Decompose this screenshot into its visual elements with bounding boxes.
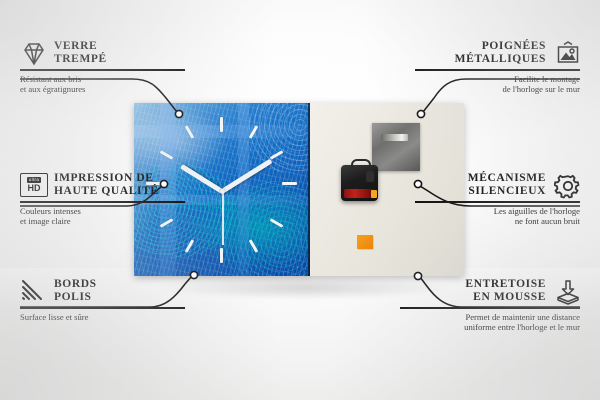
battery-plus-terminal [371,190,377,198]
feature-title: IMPRESSION DE [54,172,159,185]
hanger-plate [372,123,420,171]
feature-entretoise-en-mousse: ENTRETOISE EN MOUSSE Permet de maintenir… [400,278,580,332]
picture-hanger-icon [554,41,580,65]
divider [415,69,580,71]
infographic-canvas: VERRE TREMPÉ Résistant aux bris et aux é… [0,0,600,400]
divider [400,307,580,309]
feature-title: SILENCIEUX [468,185,546,198]
hanger-keyhole-slot [381,134,408,141]
feature-title: ENTRETOISE [465,278,546,291]
ultra-hd-badge-large: HD [28,184,41,193]
feature-title: VERRE [54,40,107,53]
hour-marker [220,117,223,132]
mechanism-dial [366,171,374,182]
feature-title: TREMPÉ [54,53,107,66]
feature-subtitle: et aux égratignures [20,84,185,94]
feature-subtitle: de l'horloge sur le mur [415,84,580,94]
gear-icon [554,173,580,197]
hour-marker [220,248,223,263]
divider [415,201,580,203]
feature-title: MÉTALLIQUES [455,53,546,66]
feature-title: MÉCANISME [468,172,546,185]
feature-subtitle: Surface lisse et sûre [20,312,185,322]
feature-subtitle: Couleurs intenses [20,206,185,216]
feature-impression-haute-qualite: ultra HD IMPRESSION DE HAUTE QUALITÉ Cou… [20,172,185,226]
diamond-icon [20,41,46,65]
feature-mecanisme-silencieux: MÉCANISME SILENCIEUX Les aiguilles de l'… [415,172,580,226]
divider [20,69,185,71]
feature-subtitle: uniforme entre l'horloge et le mur [400,322,580,332]
feature-subtitle: Résistant aux bris [20,74,185,84]
feature-bords-polis: BORDS POLIS Surface lisse et sûre [20,278,185,322]
feature-title: POIGNÉES [455,40,546,53]
feature-title: BORDS [54,278,97,291]
foam-spacer-icon [554,279,580,303]
feature-title: HAUTE QUALITÉ [54,185,159,198]
second-hand [222,191,224,245]
feature-subtitle: Permet de maintenir une distance [400,312,580,322]
feature-subtitle: et image claire [20,216,185,226]
feature-title: EN MOUSSE [465,291,546,304]
foam-spacer [357,235,373,249]
battery [344,189,374,198]
mechanism-hanging-loop [351,159,371,170]
feature-verre-trempe: VERRE TREMPÉ Résistant aux bris et aux é… [20,40,185,94]
polished-edges-icon [20,279,46,303]
ultra-hd-icon: ultra HD [20,173,46,197]
feature-subtitle: ne font aucun bruit [415,216,580,226]
divider [20,201,185,203]
divider [20,307,185,309]
hand-centre-cap [220,189,225,194]
hour-marker [282,182,297,185]
clock-mechanism [341,165,378,201]
feature-poignees-metalliques: POIGNÉES MÉTALLIQUES Facilite le montage… [415,40,580,94]
feature-subtitle: Les aiguilles de l'horloge [415,206,580,216]
feature-title: POLIS [54,291,97,304]
feature-subtitle: Facilite le montage [415,74,580,84]
